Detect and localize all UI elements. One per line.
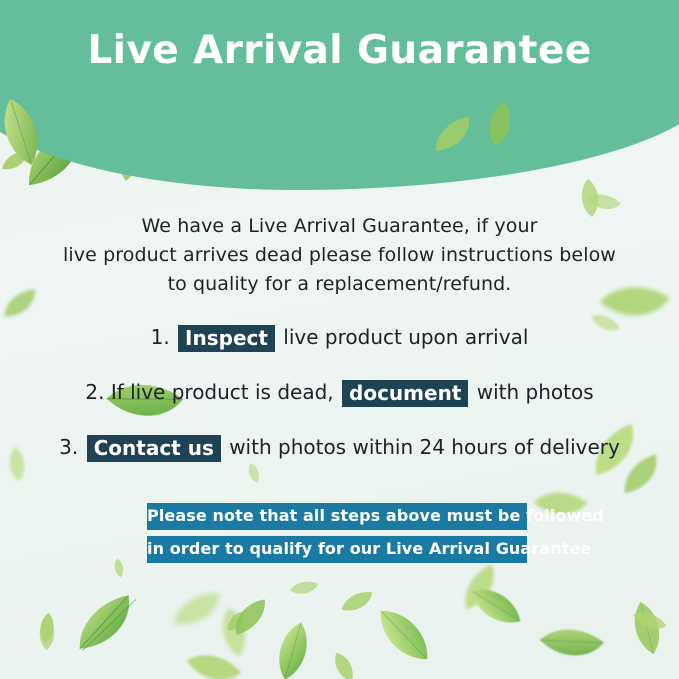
- leaf-icon: [211, 603, 257, 661]
- leaf-icon: [223, 592, 276, 640]
- leaf-icon: [619, 596, 675, 661]
- leaf-icon: [0, 147, 32, 176]
- leaf-icon: [179, 636, 246, 679]
- intro-paragraph: We have a Live Arrival Guarantee, if you…: [0, 212, 679, 299]
- intro-line-2: live product arrives dead please follow …: [0, 241, 679, 270]
- footer-note-line-1: Please note that all steps above must be…: [147, 503, 527, 530]
- leaf-icon: [455, 565, 538, 648]
- leaf-icon: [338, 588, 375, 616]
- leaf-icon: [628, 600, 671, 642]
- intro-line-1: We have a Live Arrival Guarantee, if you…: [0, 212, 679, 241]
- intro-line-3: to quality for a replacement/refund.: [0, 270, 679, 299]
- step-3-text: with photos within 24 hours of delivery: [229, 435, 620, 459]
- step-2-prefix: If live product is dead,: [111, 380, 334, 404]
- step-3: 3. Contact us with photos within 24 hour…: [0, 434, 679, 461]
- leaf-icon: [166, 585, 227, 635]
- step-1-highlight: Inspect: [178, 325, 275, 352]
- leaf-icon: [533, 609, 608, 676]
- step-1-number: 1.: [151, 325, 170, 349]
- page-title: Live Arrival Guarantee: [0, 28, 679, 73]
- step-3-highlight: Contact us: [87, 435, 221, 462]
- step-2: 2. If live product is dead, document wit…: [0, 379, 679, 406]
- step-2-highlight: document: [342, 380, 468, 407]
- leaf-icon: [220, 605, 252, 638]
- leaf-icon: [354, 585, 454, 679]
- step-2-text: with photos: [477, 380, 594, 404]
- leaf-icon: [289, 576, 320, 600]
- live-arrival-guarantee-poster: Live Arrival Guarantee We have a Live Ar…: [0, 0, 679, 679]
- leaf-icon: [34, 611, 59, 645]
- step-1: 1. Inspect live product upon arrival: [0, 324, 679, 351]
- leaf-icon: [63, 587, 147, 661]
- leaf-icon: [243, 460, 265, 486]
- leaf-icon: [449, 558, 510, 618]
- leaf-icon: [67, 590, 152, 663]
- step-2-number: 2.: [85, 380, 104, 404]
- leaf-icon: [324, 645, 365, 679]
- leaf-icon: [33, 615, 60, 652]
- footer-note-line-2: in order to qualify for our Live Arrival…: [147, 536, 527, 563]
- step-1-text: live product upon arrival: [283, 325, 528, 349]
- step-3-number: 3.: [59, 435, 78, 459]
- leaf-icon: [260, 614, 325, 679]
- leaf-icon: [110, 557, 127, 579]
